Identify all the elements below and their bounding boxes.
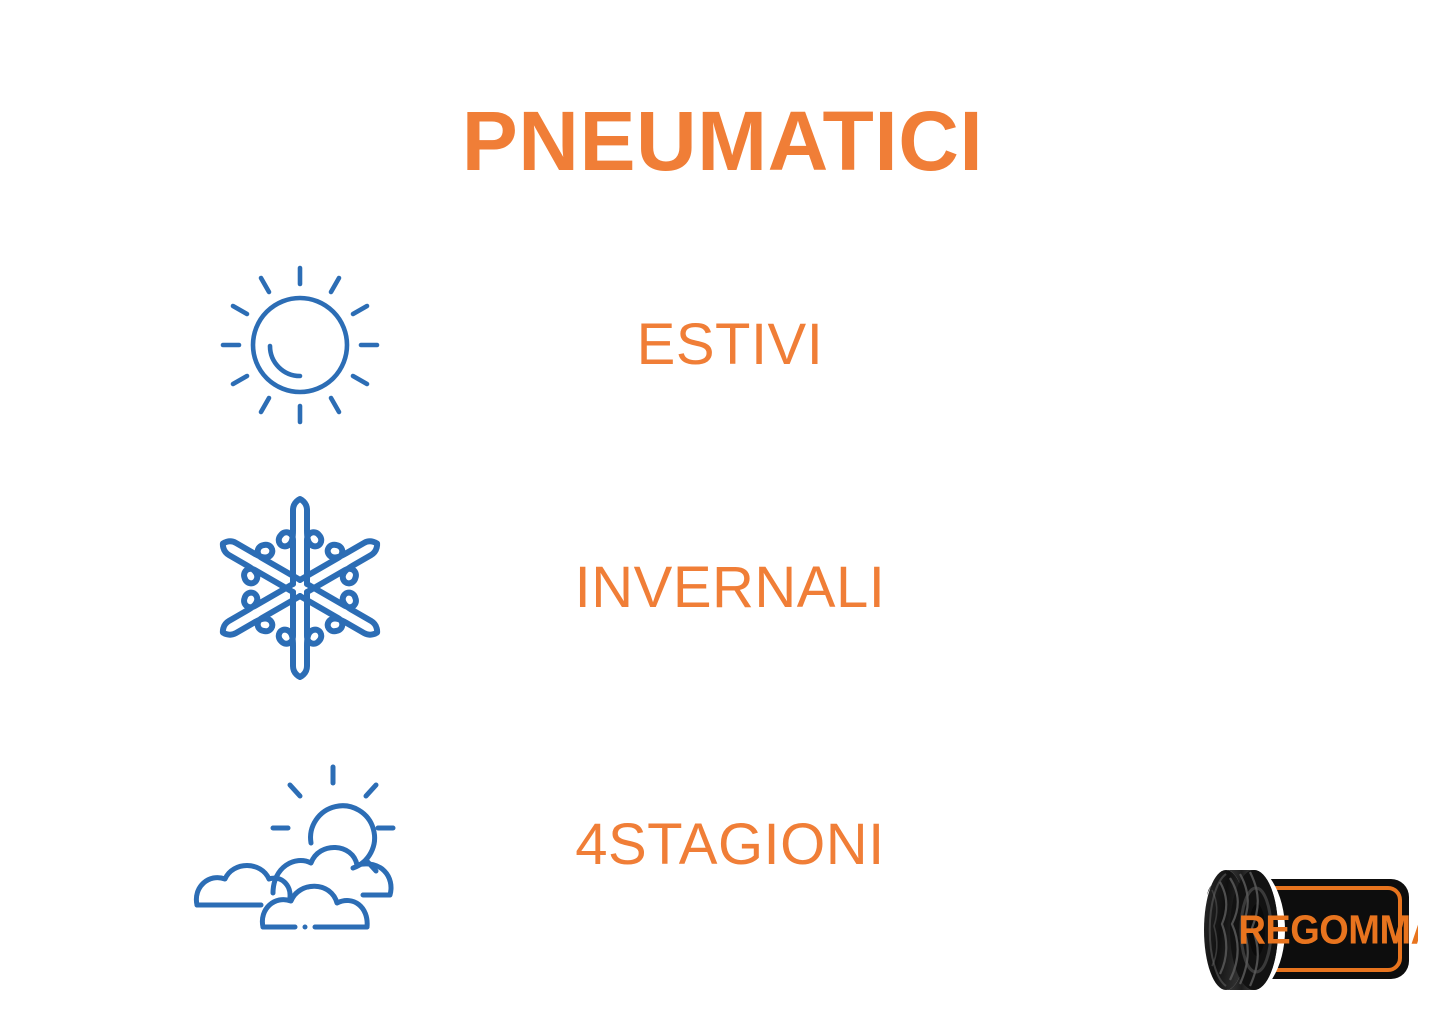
snowflake-icon — [180, 488, 420, 688]
tyre-category-label-winter: INVERNALI — [575, 557, 886, 619]
tyre-category-label-all-season: 4STAGIONI — [575, 814, 885, 876]
label-cell-all-season: 4STAGIONI — [420, 745, 1040, 945]
tyre-category-row-winter: INVERNALI — [0, 488, 1445, 688]
regomma-logo[interactable]: REGOMMA — [1196, 860, 1418, 1000]
label-cell-summer: ESTIVI — [420, 245, 1040, 445]
tyre-category-row-summer: ESTIVI — [0, 245, 1445, 445]
sun-behind-clouds-icon — [180, 745, 420, 945]
page-title: PNEUMATICI — [0, 96, 1445, 186]
poster-canvas: PNEUMATICI — [0, 0, 1445, 1022]
sun-icon — [180, 245, 420, 445]
logo-brand-text: REGOMMA — [1238, 907, 1418, 953]
tyre-category-label-summer: ESTIVI — [637, 314, 824, 376]
label-cell-winter: INVERNALI — [420, 488, 1040, 688]
